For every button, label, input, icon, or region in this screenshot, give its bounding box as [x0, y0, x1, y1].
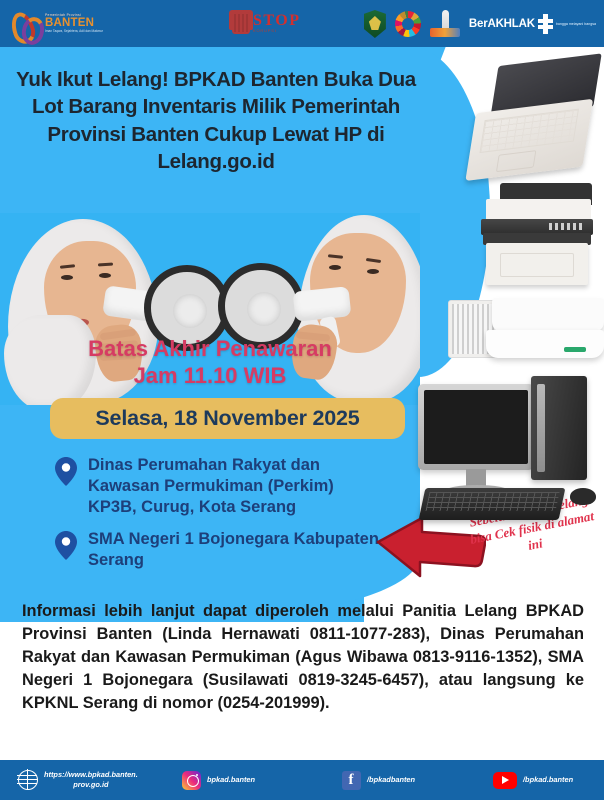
tower-monument-icon: [430, 10, 460, 38]
footer-instagram-label: bpkad.banten: [207, 775, 255, 785]
deadline-overlay: Batas Akhir Penawaran Jam 11.10 WIB: [0, 336, 420, 390]
mouse-image: [570, 488, 596, 505]
footer-social-bar: https://www.bpkad.banten. prov.go.id bpk…: [0, 760, 604, 800]
berakhlak-tagline: bangga melayani bangsa: [556, 22, 596, 27]
printer-image: [478, 183, 596, 288]
poster-root: Pemerintah Provinsi BANTEN Iman Taqwa, S…: [0, 0, 604, 800]
date-banner: Selasa, 18 November 2025: [50, 398, 405, 439]
berakhlak-symbol-icon: [538, 14, 553, 34]
youtube-icon: [493, 772, 517, 789]
footer-instagram-item[interactable]: bpkad.banten: [182, 771, 255, 790]
stop-subtext: KORUPSI: [253, 29, 301, 33]
stop-korupsi-logo: STOP KORUPSI: [232, 6, 324, 40]
banten-logo-wordmark: BANTEN: [45, 18, 103, 30]
info-paragraph: Informasi lebih lanjut dapat diperoleh m…: [22, 600, 584, 715]
banten-logo-tagline: Iman Taqwa, Sejahtera, Adil dan Makmur: [45, 29, 103, 33]
location-pin-icon: [55, 457, 77, 486]
laptop-image: [461, 54, 604, 188]
sdgs-wheel-icon: [395, 11, 421, 37]
deadline-line-2: Jam 11.10 WIB: [0, 363, 420, 390]
footer-youtube-item[interactable]: /bpkad.banten: [493, 772, 573, 789]
location-text-1: Dinas Perumahan Rakyat dan Kawasan Permu…: [88, 455, 385, 518]
location-item-1: Dinas Perumahan Rakyat dan Kawasan Permu…: [55, 455, 385, 518]
footer-youtube-label: /bpkad.banten: [523, 775, 573, 785]
pc-tower-image: [531, 376, 587, 480]
right-logo-group: BPKAD PROVINSI BANTEN BerAKHLAK bangga m…: [364, 4, 596, 44]
berakhlak-wordmark: BerAKHLAK: [469, 18, 535, 30]
location-item-2: SMA Negeri 1 Bojonegara Kabupaten Serang: [55, 529, 385, 571]
computer-set-image: [418, 370, 604, 540]
banten-emblem-icon: [10, 9, 42, 39]
page-title: Yuk Ikut Lelang! BPKAD Banten Buka Dua L…: [14, 66, 418, 175]
facebook-icon: [342, 771, 361, 790]
air-conditioner-image: [448, 290, 603, 382]
location-text-2: SMA Negeri 1 Bojonegara Kabupaten Serang: [88, 529, 385, 571]
monitor-image: [418, 384, 534, 470]
perisai-caption: BPKAD PROVINSI BANTEN: [354, 42, 396, 46]
instagram-icon: [182, 771, 201, 790]
footer-facebook-label: /bpkadbanten: [367, 775, 415, 785]
globe-icon: [18, 770, 38, 790]
perisai-shield-icon: BPKAD PROVINSI BANTEN: [364, 10, 386, 38]
footer-facebook-item[interactable]: /bpkadbanten: [342, 771, 415, 790]
stop-hand-icon: [232, 12, 250, 34]
locations-list: Dinas Perumahan Rakyat dan Kawasan Permu…: [55, 455, 385, 582]
footer-website-label: https://www.bpkad.banten. prov.go.id: [44, 770, 138, 790]
location-pin-icon: [55, 531, 77, 560]
footer-website-item[interactable]: https://www.bpkad.banten. prov.go.id: [18, 770, 138, 790]
berakhlak-logo: BerAKHLAK bangga melayani bangsa: [469, 14, 596, 34]
deadline-line-1: Batas Akhir Penawaran: [0, 336, 420, 363]
top-logo-bar: Pemerintah Provinsi BANTEN Iman Taqwa, S…: [0, 0, 604, 47]
banten-logo: Pemerintah Provinsi BANTEN Iman Taqwa, S…: [10, 5, 115, 43]
stop-wordmark: STOP: [253, 13, 301, 29]
keyboard-image: [419, 488, 566, 520]
